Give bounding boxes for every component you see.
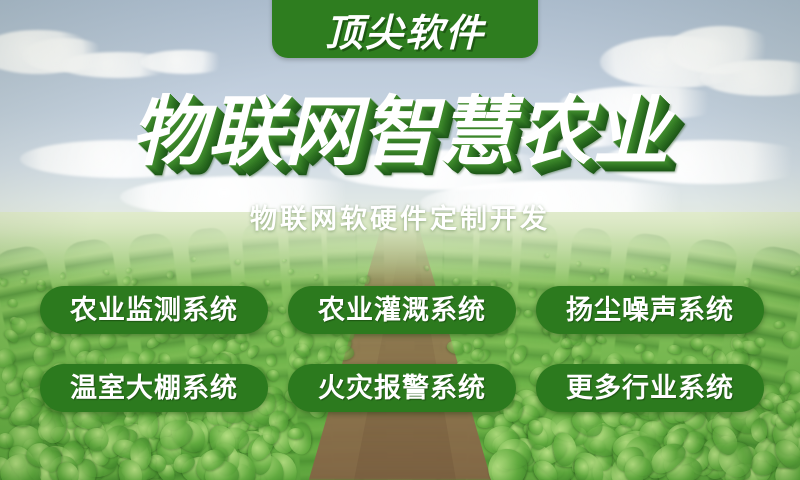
service-pill-row-1: 农业监测系统 农业灌溉系统 扬尘噪声系统 (40, 286, 764, 334)
pill-label: 火灾报警系统 (318, 375, 486, 402)
brand-name: 顶尖软件 (325, 14, 485, 52)
promo-banner: 顶尖软件 物联网智慧农业 物联网软硬件定制开发 农业监测系统 农业灌溉系统 扬尘… (0, 0, 800, 480)
pill-label: 农业灌溉系统 (318, 297, 486, 324)
service-pill-row-2: 温室大棚系统 火灾报警系统 更多行业系统 (40, 364, 764, 412)
main-headline: 物联网智慧农业 (131, 92, 670, 172)
service-pill-grid: 农业监测系统 农业灌溉系统 扬尘噪声系统 温室大棚系统 火灾报警系统 更多行业系… (40, 286, 764, 442)
pill-label: 扬尘噪声系统 (566, 297, 734, 324)
cloud-icon (140, 50, 230, 74)
headline-container: 物联网智慧农业 (0, 92, 800, 172)
sub-headline: 物联网软硬件定制开发 (250, 205, 550, 235)
brand-banner[interactable]: 顶尖软件 (272, 0, 538, 58)
pill-fire-alarm[interactable]: 火灾报警系统 (288, 364, 516, 412)
pill-agriculture-monitoring[interactable]: 农业监测系统 (40, 286, 268, 334)
pill-dust-noise[interactable]: 扬尘噪声系统 (536, 286, 764, 334)
pill-greenhouse[interactable]: 温室大棚系统 (40, 364, 268, 412)
cloud-icon (700, 60, 800, 96)
pill-agriculture-irrigation[interactable]: 农业灌溉系统 (288, 286, 516, 334)
pill-label: 农业监测系统 (70, 297, 238, 324)
pill-label: 更多行业系统 (566, 375, 734, 402)
pill-label: 温室大棚系统 (70, 375, 238, 402)
pill-more-industries[interactable]: 更多行业系统 (536, 364, 764, 412)
subtitle-container: 物联网软硬件定制开发 (0, 205, 800, 235)
